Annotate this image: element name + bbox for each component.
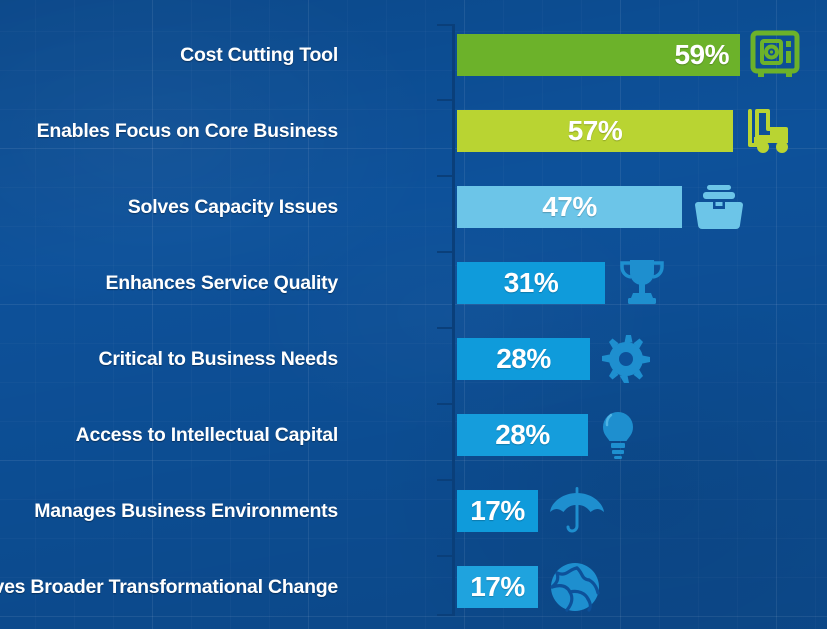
chart-row: Enhances Service Quality 31% [0,261,827,305]
bar[interactable]: 31% [457,262,605,304]
bar-value-label: 47% [542,193,597,221]
umbrella-icon [547,485,607,537]
chart-row: Drives Broader Transformational Change 1… [0,565,827,609]
axis-tick [437,555,453,557]
category-label: Cost Cutting Tool [180,33,338,77]
bar-value-label: 28% [495,421,550,449]
bar-group: 59% [457,34,801,76]
bar[interactable]: 28% [457,414,588,456]
infographic-bar-chart: Cost Cutting Tool 59% Enables Focu [0,0,827,629]
chart-row: Enables Focus on Core Business 57% [0,109,827,153]
bar-group: 28% [457,414,639,456]
bar-value-label: 59% [674,41,729,69]
bar[interactable]: 57% [457,110,733,152]
lightbulb-icon [597,409,639,461]
category-label: Drives Broader Transformational Change [0,565,338,609]
trophy-icon [614,256,670,310]
category-label: Access to Intellectual Capital [76,413,338,457]
chart-row: Manages Business Environments 17% [0,489,827,533]
category-label: Enables Focus on Core Business [37,109,338,153]
chart-row: Critical to Business Needs 28% [0,337,827,381]
safe-icon [749,29,801,81]
bar-group: 31% [457,262,670,304]
chart-row: Access to Intellectual Capital 28% [0,413,827,457]
bar-group: 28% [457,338,653,380]
bar[interactable]: 59% [457,34,740,76]
bar-value-label: 31% [504,269,559,297]
bar-group: 57% [457,110,798,152]
axis-tick [437,99,453,101]
category-label: Critical to Business Needs [99,337,339,381]
bar[interactable]: 17% [457,490,538,532]
bar-value-label: 17% [470,573,525,601]
bar[interactable]: 28% [457,338,590,380]
bar-group: 17% [457,490,607,532]
axis-tick [437,24,453,26]
axis-tick [437,175,453,177]
axis-tick [437,403,453,405]
bar-group: 17% [457,566,603,608]
category-label: Manages Business Environments [34,489,338,533]
axis-tick [437,327,453,329]
bar-value-label: 17% [470,497,525,525]
toolbox-icon [691,181,747,233]
category-label: Enhances Service Quality [106,261,338,305]
gear-icon [599,332,653,386]
bar-value-label: 57% [568,117,623,145]
globe-icon [547,559,603,615]
bar-group: 47% [457,186,747,228]
axis-tick [437,251,453,253]
category-label: Solves Capacity Issues [128,185,338,229]
forklift-icon [742,105,798,157]
bar[interactable]: 47% [457,186,682,228]
background-texture [0,0,827,629]
bar-value-label: 28% [496,345,551,373]
chart-row: Cost Cutting Tool 59% [0,33,827,77]
axis-tick [437,614,453,616]
chart-row: Solves Capacity Issues 47% [0,185,827,229]
axis-tick [437,479,453,481]
bar[interactable]: 17% [457,566,538,608]
